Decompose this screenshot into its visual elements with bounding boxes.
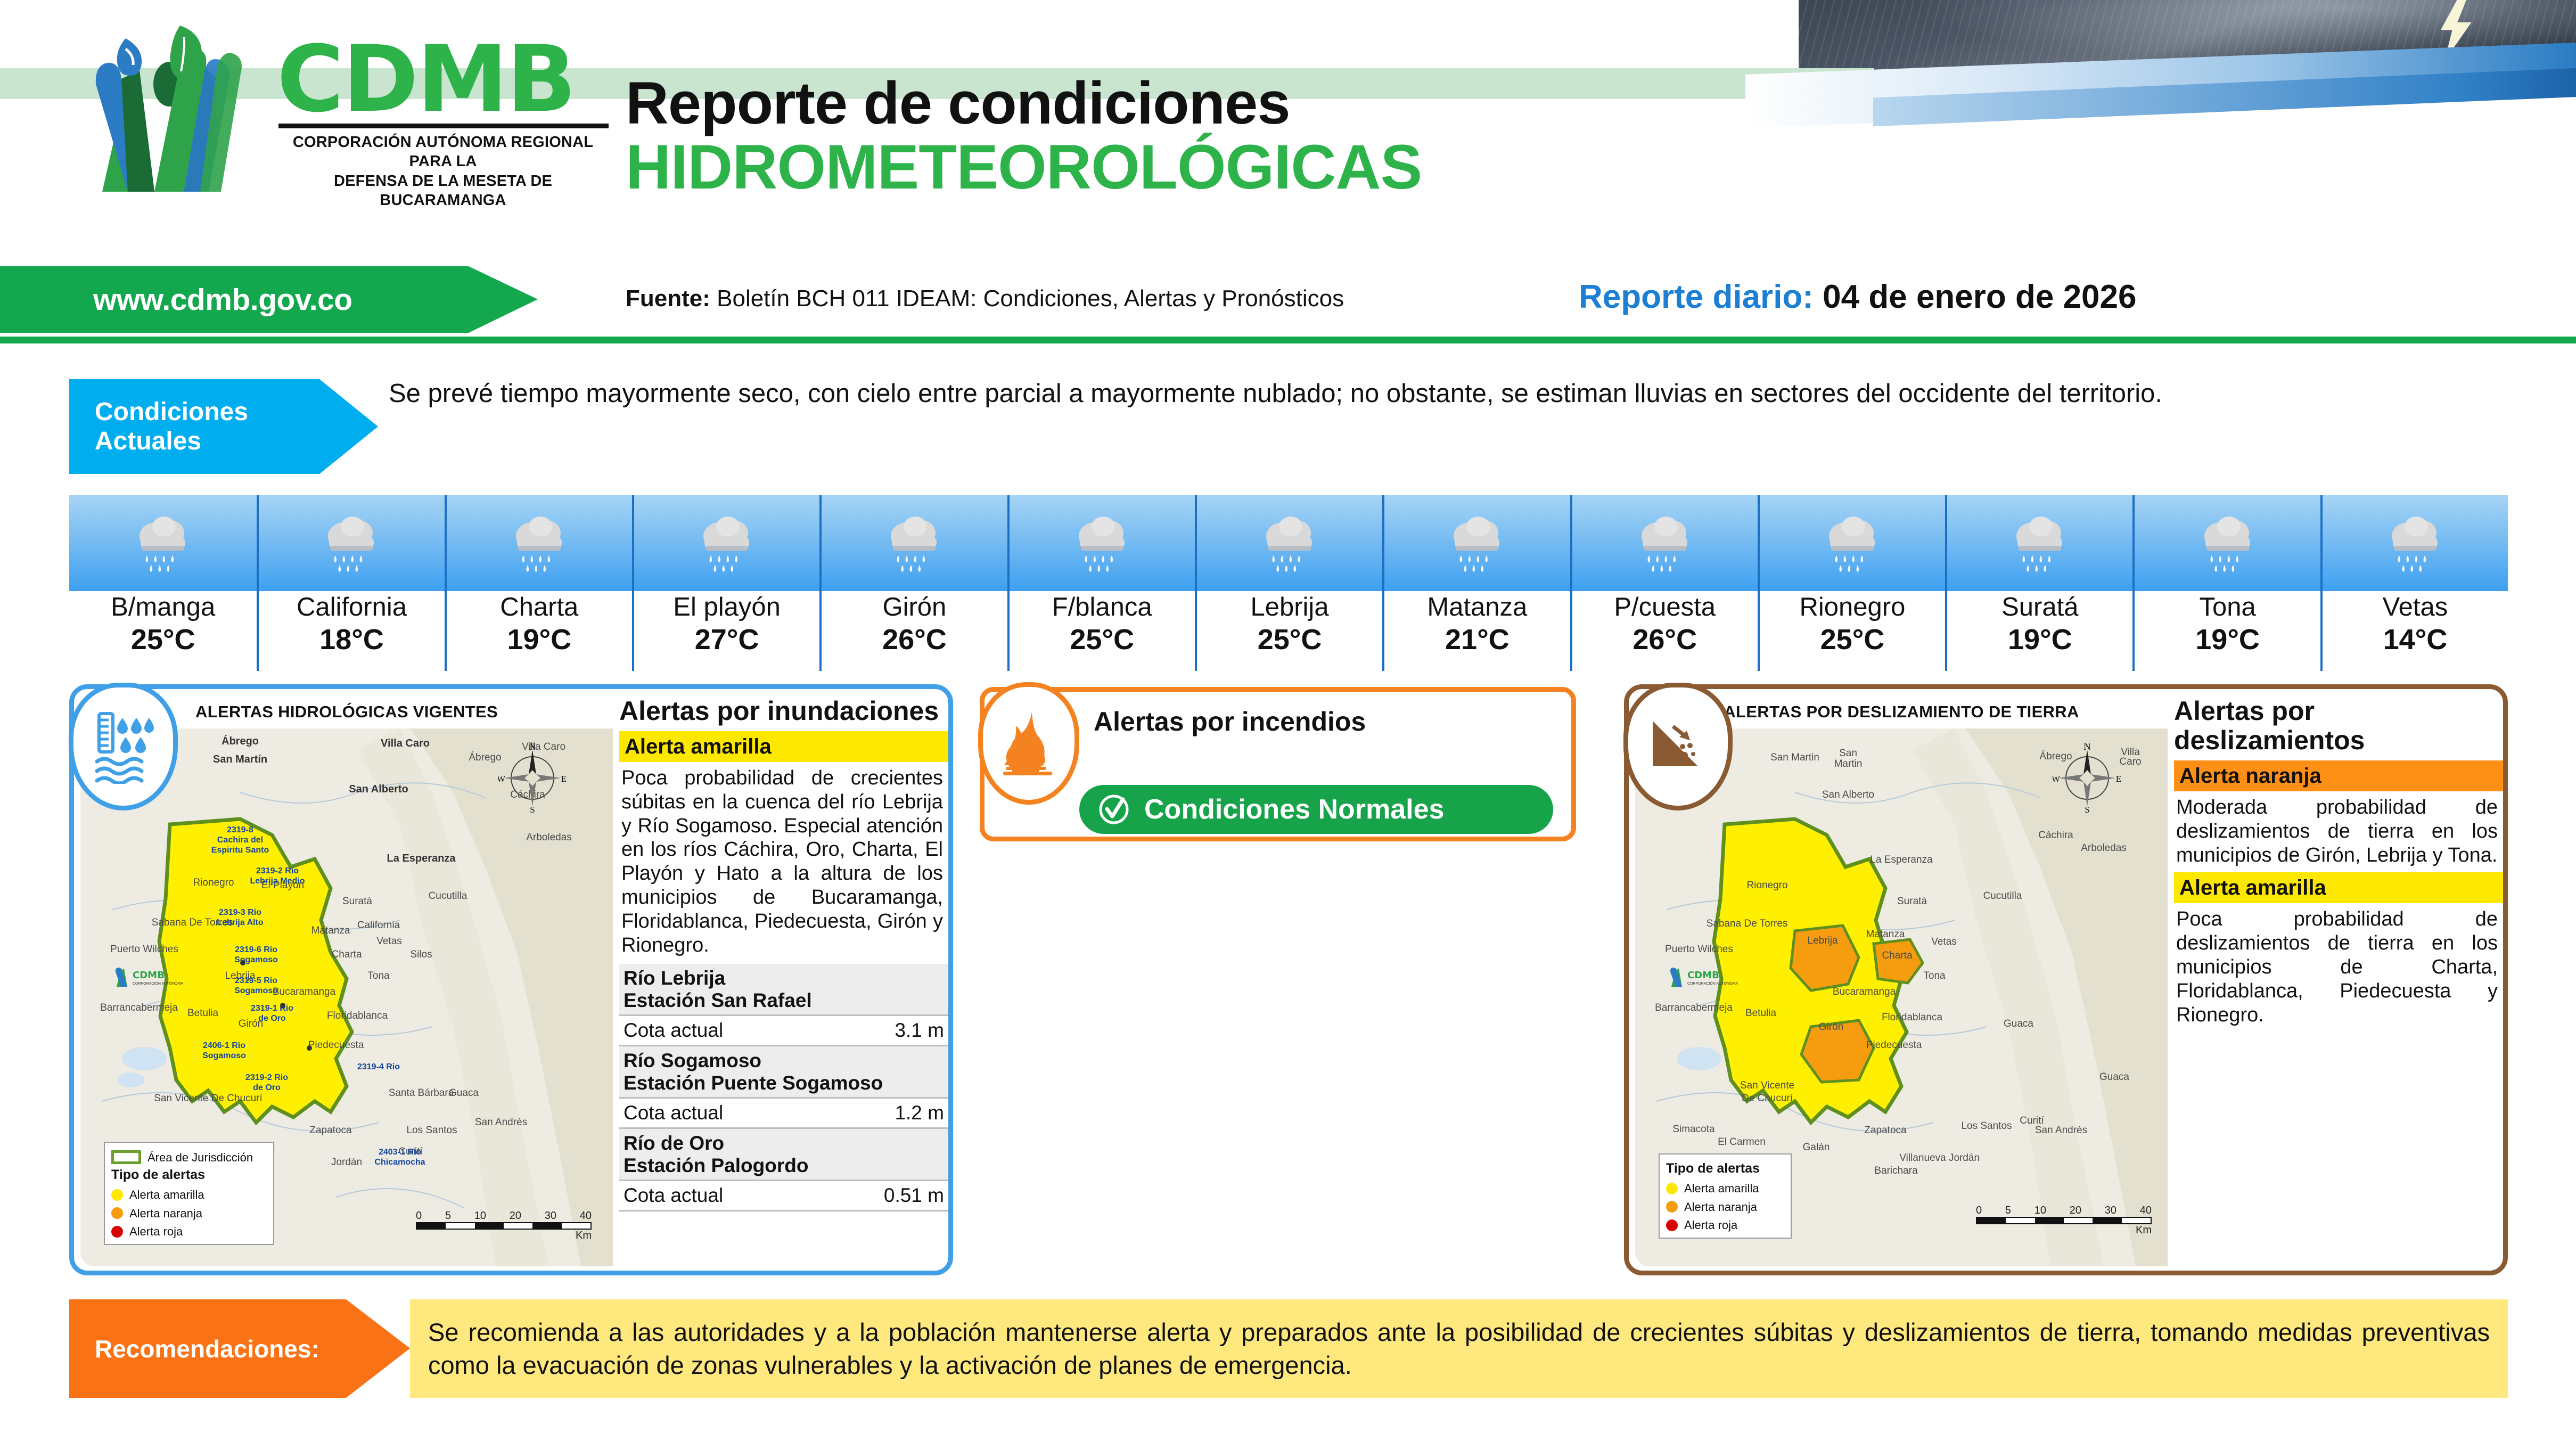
rain-cloud-icon (2196, 509, 2260, 578)
website-url[interactable]: www.cdmb.gov.co (93, 282, 352, 317)
city-name: Matanza (1427, 593, 1527, 622)
fire-status-badge: Condiciones Normales (1079, 785, 1553, 834)
flood-alert-panel: ALERTAS HIDROLÓGICAS VIGENTES (69, 684, 953, 1275)
svg-text:E: E (2116, 774, 2121, 784)
svg-text:Betulia: Betulia (187, 1008, 219, 1019)
source-credit: Fuente: Boletín BCH 011 IDEAM: Condicion… (626, 285, 1344, 312)
temperature-cell: F/blanca25°C (1007, 495, 1195, 671)
svg-text:Los Santos: Los Santos (1961, 1120, 2012, 1132)
svg-text:S: S (530, 805, 535, 813)
svg-text:Galán: Galán (1803, 1142, 1830, 1153)
landslide-alert-text-orange: Moderada probabilidad de deslizamientos … (2174, 791, 2503, 872)
legend-jurisdiction-row: Área de Jurisdicción (111, 1150, 267, 1166)
city-name: Rionegro (1800, 593, 1906, 622)
rain-cloud-icon (319, 509, 383, 578)
recommendations-text: Se recomienda a las autoridades y a la p… (428, 1316, 2490, 1381)
scalebar-track (416, 1222, 592, 1230)
temperature-labels: Tona19°C (2132, 591, 2320, 671)
recommendations-tag-label: Recomendaciones: (95, 1335, 319, 1363)
city-name: Vetas (2383, 593, 2448, 622)
svg-text:Simacota: Simacota (1672, 1124, 1715, 1135)
landslide-text-column: Alertas por deslizamientos Alerta naranj… (2174, 697, 2503, 1033)
logo-subtitle-1: CORPORACIÓN AUTÓNOMA REGIONAL PARA LA (277, 133, 609, 171)
svg-text:Barrancabermeja: Barrancabermeja (1655, 1002, 1733, 1013)
svg-text:Tona: Tona (367, 970, 390, 981)
rain-cloud-icon (2383, 509, 2447, 578)
current-conditions-tag-line2: Actuales (95, 427, 378, 456)
scale-tick-0: 0 (1976, 1205, 1982, 1217)
source-underline (0, 337, 2576, 343)
svg-text:CORPORACIÓN AUTÓNOMA: CORPORACIÓN AUTÓNOMA (133, 981, 183, 986)
temperature-labels: Matanza21°C (1382, 591, 1570, 671)
svg-text:Caro: Caro (2119, 756, 2141, 767)
flood-heading: Alertas por inundaciones (619, 697, 948, 726)
svg-text:Cucutilla: Cucutilla (1983, 890, 2022, 902)
svg-text:Charta: Charta (331, 949, 362, 960)
svg-text:Santa Bárbara: Santa Bárbara (389, 1087, 454, 1099)
svg-text:Ábrego: Ábrego (469, 752, 501, 763)
svg-text:Girón: Girón (1819, 1021, 1843, 1033)
rain-cloud-icon (1070, 509, 1134, 578)
weather-icon-cell (1945, 495, 2132, 591)
source-label: Fuente: (626, 285, 710, 312)
temperature-labels: F/blanca25°C (1007, 591, 1195, 671)
svg-text:2403-1 Rio: 2403-1 Rio (379, 1148, 421, 1157)
city-name: P/cuesta (1614, 593, 1716, 622)
svg-text:Arboledas: Arboledas (526, 832, 572, 843)
river-name-2: Río de Oro (624, 1132, 944, 1155)
landslide-map-scalebar: 0 5 10 20 30 40 Km (1976, 1205, 2152, 1237)
city-temperature: 27°C (695, 622, 759, 658)
city-temperature: 25°C (1258, 622, 1322, 658)
svg-text:Suratá: Suratá (342, 896, 372, 907)
svg-text:Guaca: Guaca (449, 1087, 479, 1099)
svg-text:La Esperanza: La Esperanza (387, 853, 456, 864)
weather-icon-cell (445, 495, 632, 591)
landslide-alert-level-orange: Alerta naranja (2174, 760, 2503, 791)
svg-text:de Oro: de Oro (253, 1083, 281, 1092)
svg-text:E: E (561, 774, 567, 784)
legend-dot-orange (1666, 1201, 1678, 1213)
svg-text:Sabana De Torres: Sabana De Torres (1707, 918, 1788, 929)
scale-unit: Km (1976, 1224, 2152, 1237)
svg-text:Charta: Charta (1882, 950, 1912, 961)
current-conditions-tag-line1: Condiciones (95, 397, 378, 427)
flood-compass: N S E W (498, 743, 567, 813)
legend-item-orange: Alerta naranja (111, 1206, 267, 1222)
svg-text:de Oro: de Oro (258, 1014, 286, 1023)
report-date-block: Reporte diario: 04 de enero de 2026 (1579, 278, 2137, 316)
water-gauge-icon (92, 709, 155, 784)
svg-text:N: N (2083, 743, 2091, 752)
legend-item-yellow: Alerta amarilla (111, 1187, 267, 1203)
svg-text:California: California (357, 920, 400, 931)
temperature-labels: B/manga25°C (69, 591, 257, 671)
svg-text:Lebrija: Lebrija (1807, 935, 1837, 946)
fire-status-text: Condiciones Normales (1144, 793, 1444, 825)
svg-text:San Alberto: San Alberto (349, 783, 408, 795)
scale-tick-3: 20 (510, 1210, 521, 1222)
svg-text:Zapatoca: Zapatoca (1864, 1125, 1907, 1136)
title-line-1: Reporte de condiciones (626, 72, 1422, 135)
website-banner[interactable]: www.cdmb.gov.co (0, 266, 538, 333)
svg-text:Bucaramanga: Bucaramanga (1833, 986, 1896, 997)
weather-icon-cell (1758, 495, 1945, 591)
temperature-labels: P/cuesta26°C (1570, 591, 1758, 671)
svg-text:W: W (498, 774, 506, 784)
legend-label-red: Alerta roja (1684, 1217, 1737, 1233)
jurisdiction-swatch (111, 1150, 141, 1164)
city-temperature: 26°C (882, 622, 947, 658)
svg-text:Rionegro: Rionegro (1746, 880, 1787, 891)
rain-cloud-icon (1445, 509, 1509, 578)
legend-item-orange: Alerta naranja (1666, 1199, 1784, 1215)
map-cdmb-watermark: CDMB CORPORACIÓN AUTÓNOMA (113, 964, 188, 989)
svg-text:Floridablanca: Floridablanca (1882, 1012, 1942, 1023)
weather-icon-cell (1007, 495, 1195, 591)
svg-text:Cucutilla: Cucutilla (429, 890, 467, 902)
weather-icon-cell (632, 495, 819, 591)
landslide-compass: N S E W (2053, 743, 2122, 813)
svg-text:Floridablanca: Floridablanca (327, 1010, 388, 1021)
svg-text:Barrancabermeja: Barrancabermeja (100, 1002, 178, 1013)
logo-subtitle-2: DEFENSA DE LA MESETA DE BUCARAMANGA (277, 171, 609, 210)
table-row: Cota actual 3.1 m (619, 1015, 948, 1045)
scale-tick-3: 20 (2070, 1205, 2081, 1217)
svg-text:CDMB: CDMB (133, 970, 165, 981)
svg-text:2319-2 Rio: 2319-2 Rio (245, 1073, 288, 1082)
table-row: Cota actual 1.2 m (619, 1098, 948, 1128)
svg-text:Betulia: Betulia (1745, 1008, 1777, 1019)
scale-tick-2: 10 (474, 1210, 486, 1222)
legend-label-orange: Alerta naranja (1684, 1199, 1757, 1215)
svg-text:Villa Caro: Villa Caro (381, 738, 430, 749)
legend-label-red: Alerta roja (129, 1224, 183, 1240)
weather-icon-cell (69, 495, 257, 591)
weather-icon-cell (2132, 495, 2320, 591)
svg-text:De Chucurí: De Chucurí (1742, 1093, 1793, 1104)
scale-tick-4: 30 (545, 1210, 556, 1222)
landslide-heading: Alertas por deslizamientos (2174, 697, 2503, 755)
map-cdmb-watermark: CDMB CORPORACIÓN AUTÓNOMA (1668, 964, 1743, 989)
svg-text:Espiritu Santo: Espiritu Santo (211, 846, 269, 855)
svg-text:2319-5 Rio: 2319-5 Rio (235, 976, 277, 985)
page-title: Reporte de condiciones HIDROMETEOROLÓGIC… (626, 72, 1422, 200)
svg-text:Piedecuesta: Piedecuesta (308, 1039, 364, 1051)
alert-panels-row: ALERTAS HIDROLÓGICAS VIGENTES (0, 684, 2576, 1275)
svg-text:Villanueva: Villanueva (1899, 1152, 1946, 1164)
fire-alert-panel: Alertas por incendios Condiciones Normal… (980, 687, 1576, 841)
svg-text:San: San (1839, 748, 1857, 759)
source-text: Boletín BCH 011 IDEAM: Condiciones, Aler… (717, 285, 1344, 312)
temperature-cell: California18°C (257, 495, 444, 671)
current-conditions-text: Se prevé tiempo mayormente seco, con cie… (389, 377, 2508, 411)
landslide-badge (1623, 683, 1733, 811)
table-row: Río Lebrija Estación San Rafael (619, 964, 948, 1016)
svg-text:Tona: Tona (1923, 970, 1946, 981)
scale-tick-1: 5 (2005, 1205, 2011, 1217)
svg-text:San Andrés: San Andrés (2035, 1125, 2087, 1136)
svg-text:2406-1 Rio: 2406-1 Rio (203, 1041, 245, 1050)
city-name: Girón (882, 593, 946, 622)
svg-text:San Vicente De Chucurí: San Vicente De Chucurí (154, 1093, 262, 1104)
temperature-cell: Tona19°C (2132, 495, 2320, 671)
svg-text:N: N (529, 743, 536, 752)
temperature-labels: Charta19°C (445, 591, 632, 671)
temperature-labels: California18°C (257, 591, 444, 671)
svg-text:Guaca: Guaca (2004, 1018, 2033, 1029)
temperature-cell: Matanza21°C (1382, 495, 1570, 671)
temperature-cell: B/manga25°C (69, 495, 257, 671)
scale-tick-5: 40 (580, 1210, 592, 1222)
city-name: F/blanca (1052, 593, 1152, 622)
city-name: El playón (673, 593, 781, 622)
flood-alert-level: Alerta amarilla (619, 731, 948, 762)
legend-dot-red (111, 1226, 123, 1238)
svg-text:San Martín: San Martín (213, 754, 267, 765)
legend-dot-orange (111, 1207, 123, 1219)
svg-text:Silos: Silos (410, 949, 432, 960)
cdmb-figures-icon (75, 16, 266, 192)
svg-text:Rionegro: Rionegro (193, 877, 234, 888)
temperature-cell: El playón27°C (632, 495, 819, 671)
temperature-labels: Rionegro25°C (1758, 591, 1945, 671)
svg-text:2319-6 Rio: 2319-6 Rio (235, 945, 277, 954)
city-name: California (297, 593, 407, 622)
city-temperature: 21°C (1445, 622, 1509, 658)
weather-icon-cell (819, 495, 1007, 591)
temperature-cell: Lebrija25°C (1195, 495, 1382, 671)
temperature-labels: Suratá19°C (1945, 591, 2132, 671)
jurisdiction-label: Área de Jurisdicción (147, 1150, 253, 1166)
rain-cloud-icon (1820, 509, 1884, 578)
svg-text:Barichara: Barichara (1874, 1165, 1918, 1176)
flood-text-column: Alertas por inundaciones Alerta amarilla… (619, 697, 948, 1211)
table-row: Cota actual 0.51 m (619, 1180, 948, 1210)
svg-text:2319-3 Rio: 2319-3 Rio (219, 908, 261, 917)
river-metric-2: Cota actual (619, 1180, 821, 1210)
city-temperature: 19°C (2195, 622, 2260, 658)
city-temperature: 25°C (1820, 622, 1885, 658)
svg-text:2319-1 Rio: 2319-1 Rio (251, 1004, 293, 1013)
temperature-labels: Lebrija25°C (1195, 591, 1382, 671)
svg-text:S: S (2085, 805, 2089, 813)
svg-text:Lebrija Alto: Lebrija Alto (217, 918, 264, 927)
weather-icon-cell (2320, 495, 2508, 591)
svg-text:Guaca: Guaca (2099, 1071, 2129, 1083)
legend-label-yellow: Alerta amarilla (1684, 1181, 1759, 1197)
svg-text:Jordán: Jordán (331, 1157, 362, 1168)
svg-text:Zapatoca: Zapatoca (309, 1125, 352, 1136)
weather-icon-cell (257, 495, 444, 591)
landslide-alert-level-yellow: Alerta amarilla (2174, 872, 2503, 903)
weather-icon-cell (1195, 495, 1382, 591)
current-conditions-section: Condiciones Actuales Se prevé tiempo may… (69, 379, 2508, 474)
title-line-2: HIDROMETEOROLÓGICAS (626, 135, 1422, 201)
svg-text:Arboledas: Arboledas (2081, 842, 2127, 854)
svg-text:Chicamocha: Chicamocha (374, 1158, 425, 1167)
svg-text:Martin: Martin (1834, 758, 1863, 769)
svg-text:Bucaramanga: Bucaramanga (273, 986, 336, 997)
flood-map-legend: Área de Jurisdicción Tipo de alertas Ale… (104, 1142, 274, 1246)
logo-wordmark: CDMB (277, 37, 639, 121)
svg-text:San Martin: San Martin (1770, 752, 1819, 763)
temperature-cell: Rionegro25°C (1758, 495, 1945, 671)
page-header: CDMB CORPORACIÓN AUTÓNOMA REGIONAL PARA … (0, 0, 2576, 266)
temperature-cell: Vetas14°C (2320, 495, 2508, 671)
legend-item-red: Alerta roja (111, 1224, 267, 1240)
rain-cloud-icon (131, 509, 195, 578)
river-station-0: Estación San Rafael (624, 989, 944, 1012)
svg-text:Ábrego: Ábrego (221, 735, 259, 747)
legend-dot-yellow (1666, 1183, 1678, 1194)
svg-text:El Carmen: El Carmen (1718, 1136, 1766, 1148)
svg-text:Vetas: Vetas (376, 936, 402, 947)
legend-label-yellow: Alerta amarilla (129, 1187, 204, 1203)
city-temperature: 25°C (131, 622, 195, 658)
river-value-0: 3.1 m (821, 1015, 948, 1045)
scale-tick-4: 30 (2105, 1205, 2116, 1217)
landslide-alert-text-yellow: Poca probabilidad de deslizamientos de t… (2174, 903, 2503, 1032)
current-conditions-tag: Condiciones Actuales (69, 379, 378, 474)
svg-text:Matanza: Matanza (1866, 929, 1905, 940)
scalebar-track (1976, 1217, 2152, 1224)
svg-text:La Esperanza: La Esperanza (1870, 854, 1933, 865)
city-temperature: 19°C (507, 622, 571, 658)
temperature-labels: Girón26°C (819, 591, 1007, 671)
svg-text:San Vicente: San Vicente (1740, 1080, 1794, 1091)
report-date-label: Reporte diario: (1579, 279, 1814, 315)
scale-tick-5: 40 (2140, 1205, 2152, 1217)
svg-text:2319-4 Rio: 2319-4 Rio (357, 1062, 400, 1071)
svg-text:Cachira del: Cachira del (217, 836, 263, 845)
temperature-strip: B/manga25°C California18°C (69, 495, 2508, 671)
check-circle-icon (1097, 793, 1130, 826)
flood-alert-text: Poca probabilidad de crecientes súbitas … (619, 762, 948, 963)
svg-text:W: W (2053, 774, 2061, 784)
temperature-cell: Girón26°C (819, 495, 1007, 671)
legend-label-orange: Alerta naranja (129, 1206, 202, 1222)
weather-icon-cell (1382, 495, 1570, 591)
city-temperature: 26°C (1632, 622, 1697, 658)
temperature-cell: Suratá19°C (1945, 495, 2132, 671)
svg-text:Puerto Wilches: Puerto Wilches (1665, 944, 1733, 955)
scalebar-ticks: 0 5 10 20 30 40 (1976, 1205, 2152, 1217)
city-name: Suratá (2001, 593, 2078, 622)
table-row: Río de Oro Estación Palogordo (619, 1128, 948, 1180)
temperature-labels: Vetas14°C (2320, 591, 2508, 671)
legend-item-yellow: Alerta amarilla (1666, 1181, 1784, 1197)
scale-tick-1: 5 (445, 1210, 451, 1222)
river-name-1: Río Sogamoso (624, 1050, 944, 1073)
city-name: B/manga (111, 593, 215, 622)
legend-dot-yellow (111, 1189, 123, 1201)
svg-text:CORPORACIÓN AUTÓNOMA: CORPORACIÓN AUTÓNOMA (1687, 981, 1738, 986)
city-temperature: 25°C (1070, 622, 1134, 658)
recommendations-section: Recomendaciones: Se recomienda a las aut… (69, 1299, 2508, 1398)
temperature-cell: Charta19°C (445, 495, 632, 671)
svg-text:Lebrija Medio: Lebrija Medio (250, 877, 305, 886)
compass-rose-icon: N S E W (2053, 743, 2122, 813)
river-station-1: Estación Puente Sogamoso (624, 1072, 944, 1095)
legend-title: Tipo de alertas (1666, 1160, 1784, 1178)
city-name: Tona (2199, 593, 2255, 622)
svg-text:Suratá: Suratá (1897, 896, 1927, 907)
river-metric-1: Cota actual (619, 1098, 821, 1128)
legend-item-red: Alerta roja (1666, 1217, 1784, 1233)
svg-text:2319-2 Rio: 2319-2 Rio (256, 866, 299, 875)
fire-forest-icon (1000, 709, 1057, 778)
table-row: Río Sogamoso Estación Puente Sogamoso (619, 1045, 948, 1098)
city-temperature: 14°C (2383, 622, 2448, 658)
svg-text:2319-8: 2319-8 (227, 825, 253, 834)
svg-text:Piedecuesta: Piedecuesta (1866, 1039, 1922, 1051)
scale-tick-2: 10 (2034, 1205, 2046, 1217)
river-value-1: 1.2 m (821, 1098, 948, 1128)
rain-cloud-icon (1258, 509, 1322, 578)
landslide-map-legend: Tipo de alertas Alerta amarilla Alerta n… (1659, 1153, 1792, 1239)
river-value-2: 0.51 m (821, 1180, 948, 1210)
svg-text:Matanza: Matanza (311, 925, 350, 936)
svg-text:San Alberto: San Alberto (1822, 789, 1874, 800)
svg-text:Jordán: Jordán (1949, 1152, 1980, 1164)
svg-text:CDMB: CDMB (1687, 970, 1719, 981)
landslide-alert-panel: ALERTAS POR DESLIZAMIENTO DE TIERRA (1624, 684, 2508, 1275)
legend-title: Tipo de alertas (111, 1166, 267, 1184)
fire-heading: Alertas por incendios (1094, 707, 1366, 736)
report-date-value: 04 de enero de 2026 (1823, 279, 2136, 315)
river-name-0: Río Lebrija (624, 967, 944, 990)
flood-badge (69, 683, 178, 811)
svg-text:Los Santos: Los Santos (406, 1125, 457, 1136)
svg-text:San Andrés: San Andrés (475, 1117, 527, 1128)
rain-cloud-icon (2008, 509, 2072, 578)
rain-cloud-icon (882, 509, 946, 578)
landslide-icon (1646, 715, 1710, 779)
compass-rose-icon: N S E W (498, 743, 567, 813)
rain-cloud-icon (1633, 509, 1697, 578)
recommendations-body: Se recomienda a las autoridades y a la p… (410, 1299, 2508, 1398)
svg-text:Sogamoso: Sogamoso (202, 1051, 246, 1060)
svg-text:Curití: Curití (2020, 1115, 2044, 1126)
city-name: Lebrija (1250, 593, 1328, 622)
weather-icon-cell (1570, 495, 1758, 591)
recommendations-tag: Recomendaciones: (69, 1299, 410, 1398)
flood-map-scalebar: 0 5 10 20 30 40 Km (416, 1210, 592, 1242)
rain-cloud-icon (507, 509, 571, 578)
scale-unit: Km (416, 1230, 592, 1242)
cdmb-logo: CDMB CORPORACIÓN AUTÓNOMA REGIONAL PARA … (75, 16, 639, 218)
rain-cloud-icon (695, 509, 759, 578)
scale-tick-0: 0 (416, 1210, 422, 1222)
fire-badge (978, 682, 1079, 805)
legend-dot-red (1666, 1219, 1678, 1231)
svg-text:Puerto Wilches: Puerto Wilches (110, 944, 178, 955)
svg-text:Sogamoso: Sogamoso (234, 986, 278, 995)
river-levels-table: Río Lebrija Estación San Rafael Cota act… (619, 964, 948, 1211)
svg-text:Cáchira: Cáchira (2038, 830, 2073, 841)
svg-text:Vetas: Vetas (1931, 936, 1957, 947)
river-station-2: Estación Palogordo (624, 1155, 944, 1177)
city-name: Charta (500, 593, 578, 622)
temperature-labels: El playón27°C (632, 591, 819, 671)
scalebar-ticks: 0 5 10 20 30 40 (416, 1210, 592, 1222)
city-temperature: 19°C (2008, 622, 2072, 658)
city-temperature: 18°C (319, 622, 384, 658)
temperature-cell: P/cuesta26°C (1570, 495, 1758, 671)
river-metric-0: Cota actual (619, 1015, 821, 1045)
